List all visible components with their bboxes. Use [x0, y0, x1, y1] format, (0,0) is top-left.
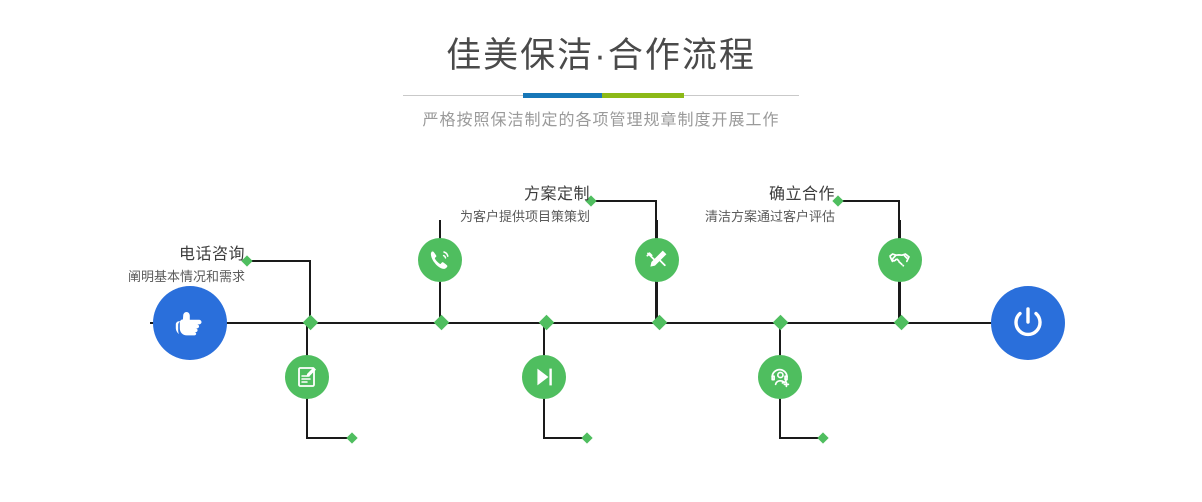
connector-horizontal-1: [247, 260, 310, 262]
divider-segment-blue: [523, 93, 602, 98]
axis-marker-2: [434, 315, 450, 331]
flow-diagram-page: 佳美保洁·合作流程 严格按照保洁制定的各项管理规章制度开展工作: [0, 0, 1202, 502]
axis-marker-3: [539, 315, 555, 331]
step-title-5: 确立合作: [630, 184, 835, 206]
phone-call-icon: [427, 247, 453, 273]
connector-tip-2: [346, 432, 357, 443]
connector-tip-4: [581, 432, 592, 443]
title-divider: [403, 90, 799, 102]
step-icon-6[interactable]: [758, 355, 802, 399]
connector-horizontal-4: [543, 437, 585, 439]
step-label-1: 电话咨询 阐明基本情况和需求: [150, 244, 245, 266]
page-header: 佳美保洁·合作流程 严格按照保洁制定的各项管理规章制度开展工作: [0, 34, 1202, 132]
axis-marker-5: [773, 315, 789, 331]
connector-tip-6: [817, 432, 828, 443]
step-icon-1[interactable]: [418, 238, 462, 282]
step-icon-4[interactable]: [522, 355, 566, 399]
step-title-3: 方案定制: [390, 184, 590, 206]
process-timeline: 电话咨询 阐明基本情况和需求 签署协议 签署合同，项目正式启动: [0, 160, 1202, 502]
page-subtitle: 严格按照保洁制定的各项管理规章制度开展工作: [0, 110, 1202, 132]
pencil-ruler-icon: [644, 247, 670, 273]
document-pencil-icon: [294, 364, 320, 390]
pointing-hand-icon: [170, 303, 210, 343]
page-title: 佳美保洁·合作流程: [0, 34, 1202, 78]
timeline-end-node[interactable]: [991, 286, 1065, 360]
headset-support-icon: [767, 364, 793, 390]
handshake-icon: [887, 247, 913, 273]
step-icon-2[interactable]: [285, 355, 329, 399]
timeline-start-node[interactable]: [153, 286, 227, 360]
divider-segment-green: [602, 93, 684, 98]
step-desc-1: 阐明基本情况和需求: [128, 267, 245, 287]
step-label-5: 确立合作 清洁方案通过客户评估: [630, 184, 835, 227]
play-skip-icon: [531, 364, 557, 390]
axis-marker-6: [894, 315, 910, 331]
step-icon-5[interactable]: [878, 238, 922, 282]
connector-horizontal-2: [306, 437, 350, 439]
power-button-icon: [1007, 302, 1049, 344]
step-desc-5: 清洁方案通过客户评估: [630, 207, 835, 227]
timeline-axis: [150, 322, 1052, 324]
connector-horizontal-6: [779, 437, 821, 439]
step-desc-3: 为客户提供项目策策划: [390, 207, 590, 227]
step-title-1: 电话咨询: [150, 244, 245, 266]
connector-horizontal-5: [838, 200, 900, 202]
step-icon-3[interactable]: [635, 238, 679, 282]
step-label-3: 方案定制 为客户提供项目策策划: [390, 184, 590, 227]
